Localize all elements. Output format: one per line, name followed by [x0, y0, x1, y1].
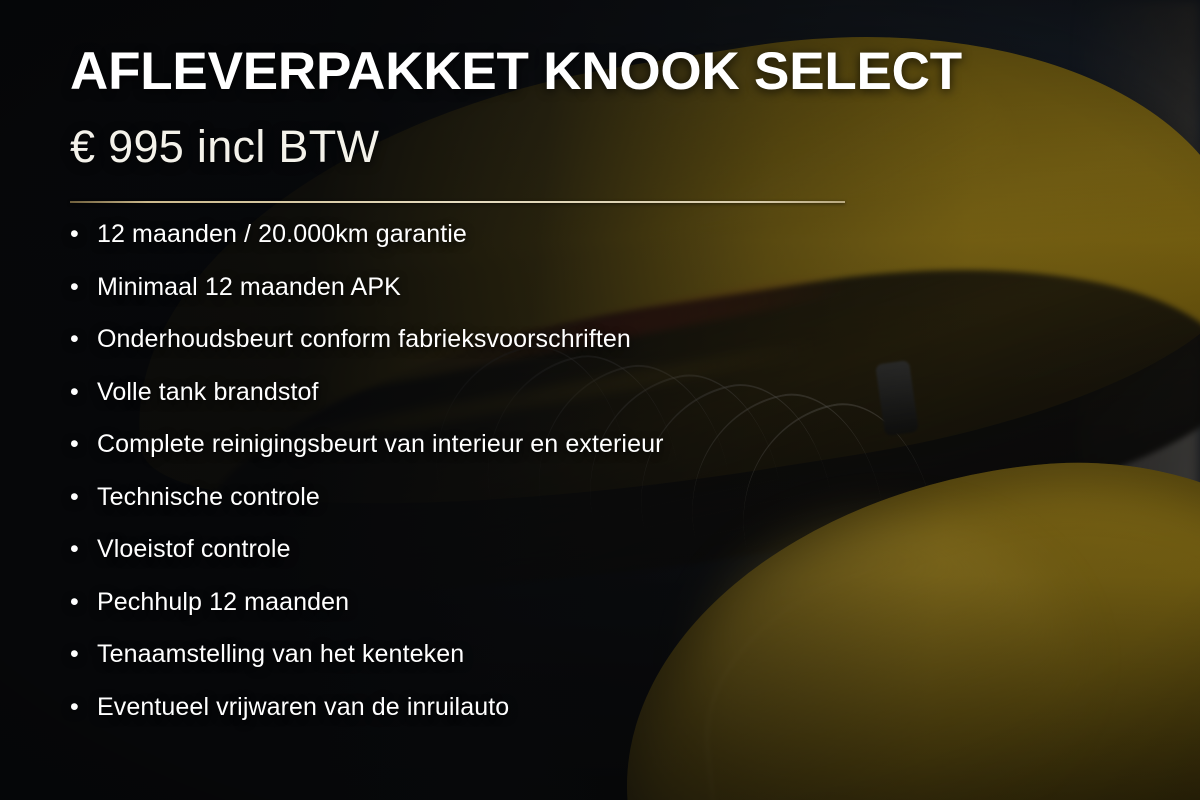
list-item-label: Pechhulp 12 maanden [97, 588, 349, 617]
bullet-icon: • [70, 537, 97, 562]
list-item-label: Tenaamstelling van het kenteken [97, 640, 464, 669]
list-item-label: 12 maanden / 20.000km garantie [97, 220, 467, 249]
bullet-icon: • [70, 380, 97, 405]
list-item: •Complete reinigingsbeurt van interieur … [70, 430, 1070, 483]
list-item: •Vloeistof controle [70, 535, 1070, 588]
bullet-icon: • [70, 327, 97, 352]
bullet-icon: • [70, 695, 97, 720]
divider-rule [70, 201, 845, 203]
list-item: •Volle tank brandstof [70, 378, 1070, 431]
list-item-label: Vloeistof controle [97, 535, 291, 564]
bullet-icon: • [70, 432, 97, 457]
feature-list: •12 maanden / 20.000km garantie•Minimaal… [70, 220, 1070, 745]
list-item: •Minimaal 12 maanden APK [70, 273, 1070, 326]
list-item-label: Volle tank brandstof [97, 378, 319, 407]
list-item-label: Minimaal 12 maanden APK [97, 273, 401, 302]
page-title: AFLEVERPAKKET KNOOK SELECT [70, 44, 962, 99]
banner-content: AFLEVERPAKKET KNOOK SELECT € 995 incl BT… [0, 0, 1200, 800]
bullet-icon: • [70, 222, 97, 247]
bullet-icon: • [70, 590, 97, 615]
list-item-label: Eventueel vrijwaren van de inruilauto [97, 693, 509, 722]
bullet-icon: • [70, 642, 97, 667]
price-subtitle: € 995 incl BTW [70, 122, 379, 172]
delivery-package-banner: AFLEVERPAKKET KNOOK SELECT € 995 incl BT… [0, 0, 1200, 800]
bullet-icon: • [70, 275, 97, 300]
list-item: •Pechhulp 12 maanden [70, 588, 1070, 641]
list-item-label: Onderhoudsbeurt conform fabrieksvoorschr… [97, 325, 631, 354]
list-item-label: Technische controle [97, 483, 320, 512]
list-item: •12 maanden / 20.000km garantie [70, 220, 1070, 273]
list-item-label: Complete reinigingsbeurt van interieur e… [97, 430, 664, 459]
list-item: •Tenaamstelling van het kenteken [70, 640, 1070, 693]
list-item: •Onderhoudsbeurt conform fabrieksvoorsch… [70, 325, 1070, 378]
list-item: •Eventueel vrijwaren van de inruilauto [70, 693, 1070, 746]
list-item: •Technische controle [70, 483, 1070, 536]
bullet-icon: • [70, 485, 97, 510]
